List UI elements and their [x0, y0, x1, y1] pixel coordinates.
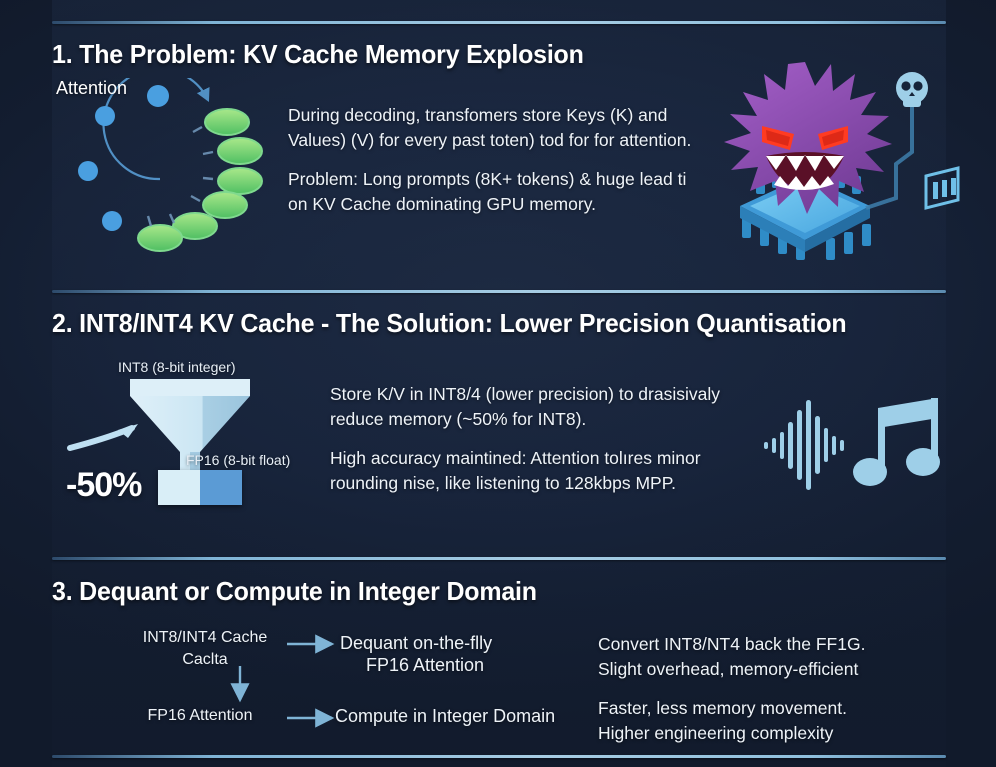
monster-mouth — [766, 152, 844, 190]
section-2-body: Store K/V in INT8/4 (lower precision) to… — [330, 382, 748, 496]
divider-bottom — [52, 755, 946, 758]
flow-source-label-line1: INT8/INT4 Cache — [135, 627, 275, 649]
divider-section-2-3 — [52, 557, 946, 560]
attention-node-blue — [78, 161, 98, 181]
flow-target-top-line1: Dequant on-the-flly — [340, 632, 510, 654]
bar-segment-used — [200, 470, 242, 505]
section-1-body: During decoding, transfomers store Keys … — [288, 103, 708, 217]
section-2-paragraph-2: High accuracy maintined: Attention tolır… — [330, 446, 748, 496]
waveform-icon — [764, 400, 844, 490]
divider-top — [52, 21, 946, 24]
memory-monster-illustration — [700, 48, 962, 283]
attention-node-blue — [102, 211, 122, 231]
attention-tick-marks — [148, 127, 213, 226]
section-1-paragraph-2: Problem: Long prompts (8K+ tokens) & hug… — [288, 167, 708, 217]
section-2-title: 2. INT8/INT4 KV Cache - The Solution: Lo… — [52, 308, 846, 339]
section-1-paragraph-1: During decoding, transfomers store Keys … — [288, 103, 708, 153]
section-3-note-2: Faster, less memory movement. Higher eng… — [598, 696, 938, 746]
attention-node-blue — [147, 85, 169, 107]
attention-diagram-label: Attention — [56, 78, 127, 99]
funnel-top-label: INT8 (8-bit integer) — [118, 359, 235, 375]
flow-source-label-line2: Caclta — [135, 649, 275, 671]
skull-icon — [896, 72, 928, 107]
music-note-icon — [853, 398, 940, 486]
section-3-title: 3. Dequant or Compute in Integer Domain — [52, 576, 537, 607]
bar-segment-saved — [158, 470, 200, 505]
monster-body — [724, 62, 892, 214]
infographic-page: 1. The Problem: KV Cache Memory Explosio… — [0, 0, 996, 767]
flow-source-down-label: FP16 Attention — [125, 705, 275, 727]
audio-quality-illustration — [762, 398, 962, 493]
attention-node-blue — [95, 106, 115, 126]
funnel-bottom-label: FP16 (8-bit float) — [186, 452, 290, 468]
divider-section-1-2 — [52, 290, 946, 293]
section-1-title: 1. The Problem: KV Cache Memory Explosio… — [52, 39, 584, 70]
reduction-percentage: -50% — [66, 466, 141, 505]
flow-target-bottom: Compute in Integer Domain — [335, 705, 575, 727]
section-2-paragraph-1: Store K/V in INT8/4 (lower precision) to… — [330, 382, 748, 432]
memory-reduction-bar — [158, 470, 242, 505]
attention-diagram — [60, 78, 290, 263]
section-3-note-1: Convert INT8/NT4 back the FF1G. Slight o… — [598, 632, 938, 682]
funnel-input-arrow — [70, 424, 138, 448]
flow-target-top-line2: FP16 Attention — [340, 654, 510, 676]
memory-module-icon — [926, 168, 958, 208]
funnel-rim — [130, 379, 250, 396]
